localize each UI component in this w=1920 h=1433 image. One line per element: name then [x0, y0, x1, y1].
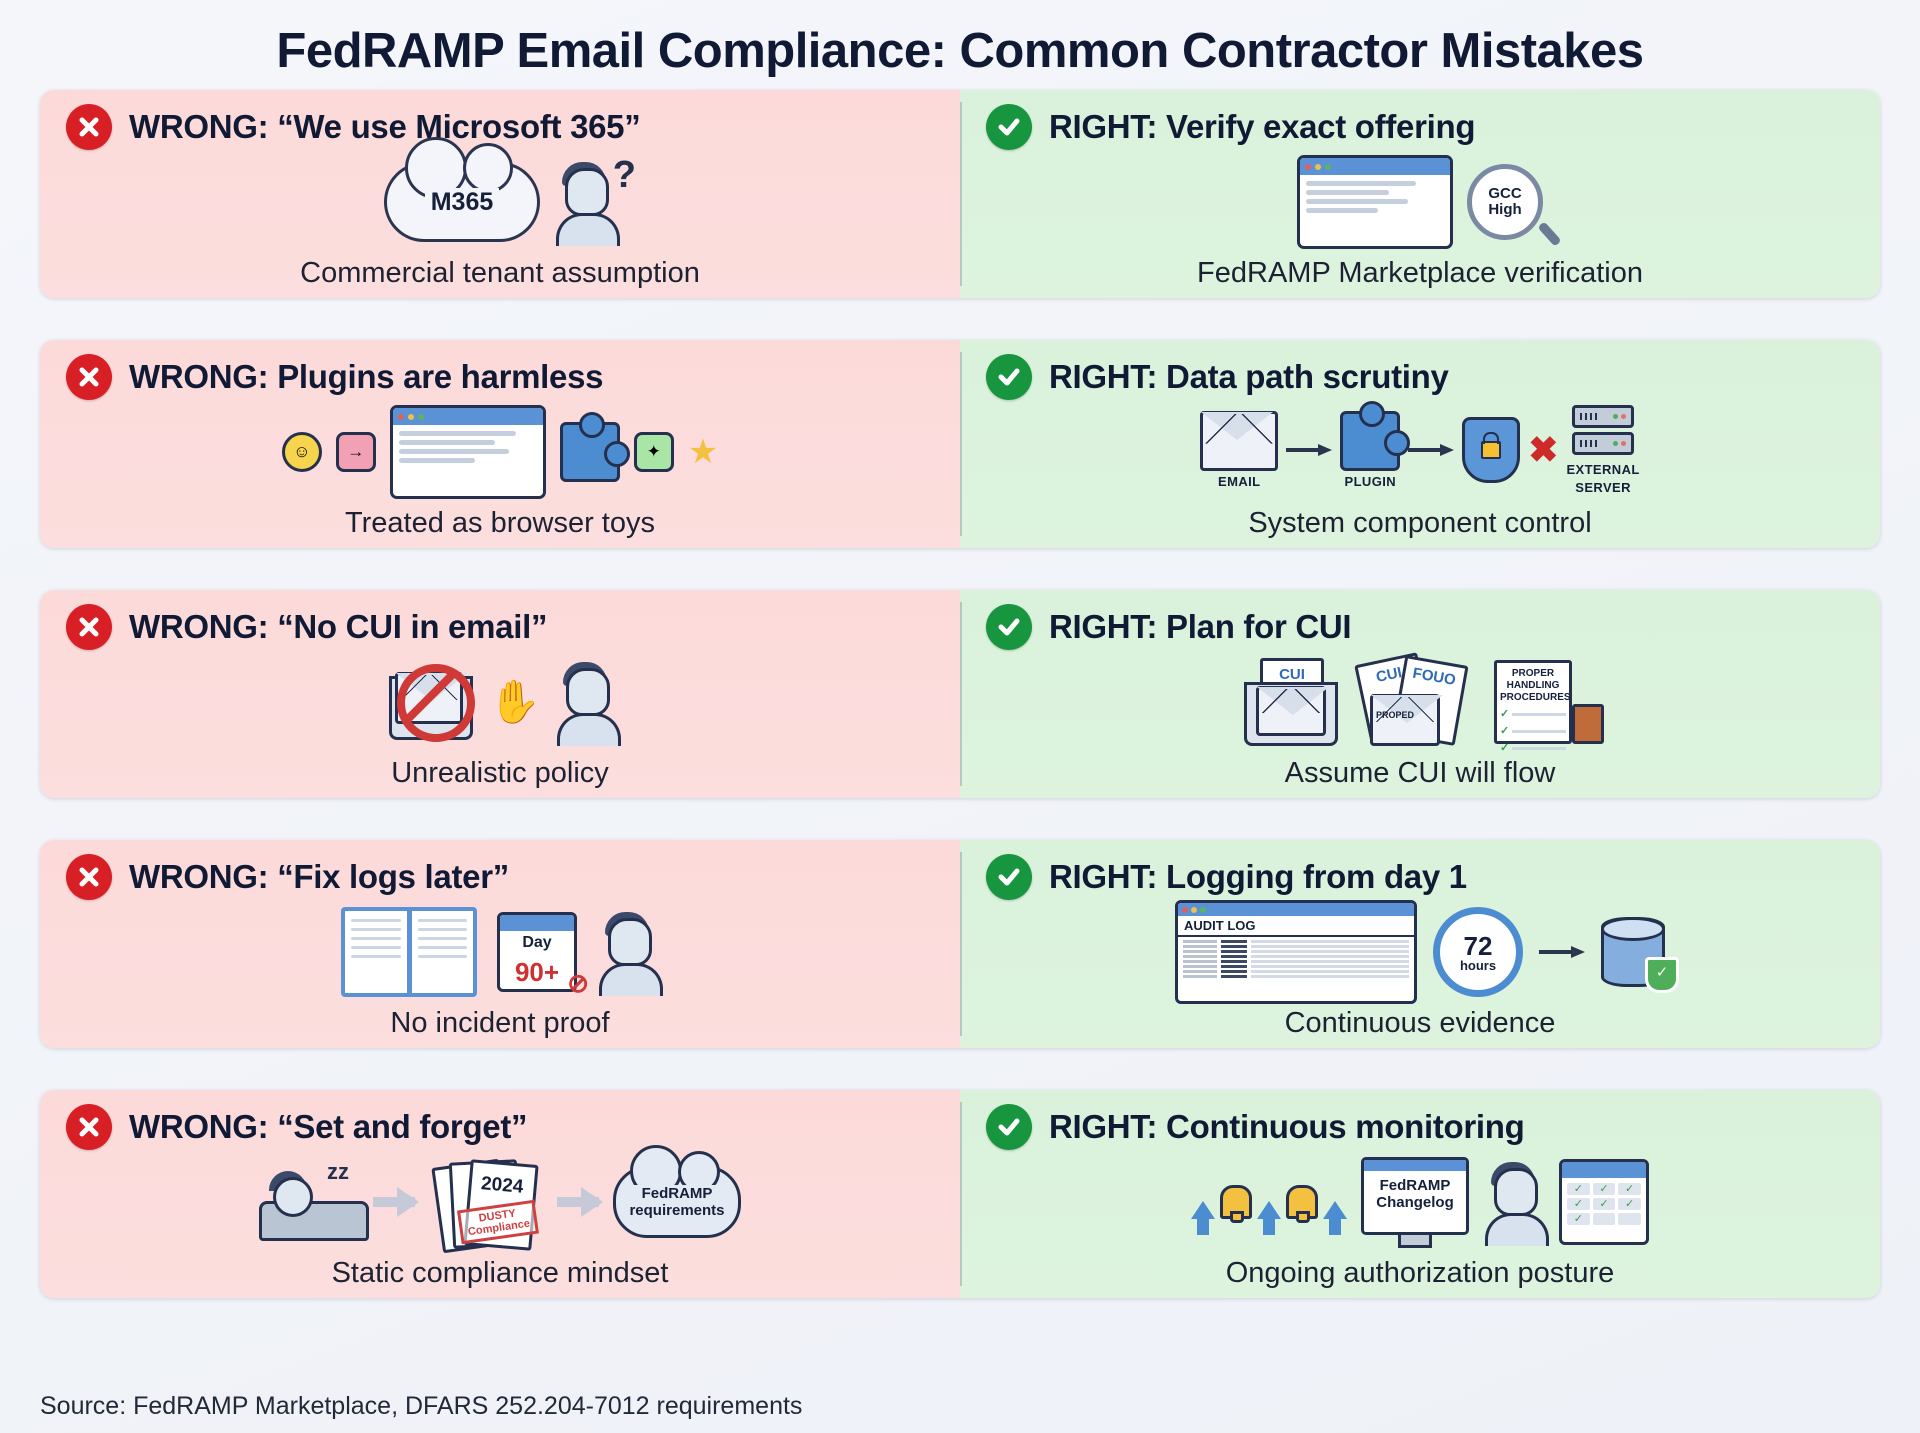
cloud-line1: FedRAMP [638, 1185, 717, 1202]
window-content [1300, 175, 1450, 219]
comparison-row-1: WRONG: “We use Microsoft 365” M365 ? Com… [40, 90, 1880, 298]
calendar-day-value: 90+ [500, 955, 574, 989]
right-caption-4: Continuous evidence [960, 1007, 1880, 1040]
window-maximize-dot [418, 414, 424, 420]
checklist-item: ✓ [1500, 742, 1566, 755]
wrong-header-5: WRONG: “Set and forget” [40, 1090, 960, 1150]
right-header-5: RIGHT: Continuous monitoring [960, 1090, 1880, 1150]
calendar-cell [1593, 1213, 1616, 1225]
calendar-icon: Day 90+ [497, 912, 577, 992]
blocked-circle-icon: ⊘ [567, 970, 589, 996]
cloud-text: FedRAMP requirements [621, 1185, 732, 1220]
alerts-group [1191, 1185, 1347, 1219]
right-header-1: RIGHT: Verify exact offering [960, 90, 1880, 150]
calendar-cell: ✓ [1567, 1213, 1590, 1225]
plugin-node: PLUGIN [1340, 411, 1400, 489]
content-line [399, 440, 496, 445]
calendar-cell: ✓ [1618, 1183, 1641, 1195]
wrong-art-3: ✋ [40, 652, 960, 752]
plugin-node-label: PLUGIN [1345, 474, 1397, 489]
content-line [1306, 199, 1408, 204]
rubber-stamp-icon [1572, 704, 1604, 744]
window-close-dot [1305, 164, 1311, 170]
wrong-art-4: Day 90+ ⊘ [40, 902, 960, 1002]
wrong-header-3: WRONG: “No CUI in email” [40, 590, 960, 650]
audit-log-row [1183, 940, 1409, 943]
check-mark-icon [986, 1104, 1032, 1150]
right-heading-4: RIGHT: Logging from day 1 [1049, 858, 1467, 896]
check-mark-icon [986, 354, 1032, 400]
wrong-art-1: M365 ? [40, 152, 960, 252]
wrong-heading-2: WRONG: Plugins are harmless [129, 358, 603, 396]
x-mark-icon [66, 604, 112, 650]
calendar-header [500, 915, 574, 931]
cui-fouo-group: CUI FOUO PROPED [1362, 658, 1472, 746]
wrong-panel-5: WRONG: “Set and forget” zᴢ 2024 [40, 1090, 960, 1298]
72-hours-clock-icon: 72 hours [1433, 907, 1523, 997]
window-close-dot [398, 414, 404, 420]
m365-cloud-icon: M365 [384, 162, 540, 242]
wrong-header-1: WRONG: “We use Microsoft 365” [40, 90, 960, 150]
right-panel-4: RIGHT: Logging from day 1 AUDIT LOG [960, 840, 1880, 1048]
calendar-cell: ✓ [1593, 1198, 1616, 1210]
infographic-page: FedRAMP Email Compliance: Common Contrac… [0, 0, 1920, 1433]
person-icon [555, 658, 617, 746]
right-heading-3: RIGHT: Plan for CUI [1049, 608, 1351, 646]
high-label: High [1488, 202, 1521, 218]
wrong-art-2: ☺ → [40, 402, 960, 502]
person-body [556, 213, 620, 246]
window-titlebar [393, 408, 543, 425]
flow-arrow-icon [557, 1187, 603, 1217]
arrow-chip-icon: → [336, 432, 376, 472]
email-envelope-icon [1370, 694, 1440, 746]
audit-log-title: AUDIT LOG [1178, 916, 1414, 937]
comparison-row-3: WRONG: “No CUI in email” ✋ Unreal [40, 590, 1880, 798]
audit-log-row [1183, 945, 1409, 948]
up-arrow-icon [1257, 1201, 1281, 1219]
wrong-caption-3: Unrealistic policy [40, 757, 960, 790]
monitor-text: FedRAMP Changelog [1364, 1171, 1466, 1212]
m365-cloud-label: M365 [425, 188, 500, 217]
right-panel-2: RIGHT: Data path scrutiny EMAIL PLUGIN [960, 340, 1880, 548]
right-caption-2: System component control [960, 507, 1880, 540]
bell-icon [1220, 1185, 1252, 1219]
right-header-2: RIGHT: Data path scrutiny [960, 340, 1880, 400]
notebook-left-page [345, 911, 407, 993]
content-line [399, 458, 475, 463]
monitor-line2: Changelog [1376, 1194, 1454, 1211]
wrong-art-5: zᴢ 2024 DUSTY Compliance [40, 1152, 960, 1252]
content-line [1306, 208, 1378, 213]
right-art-1: GCC High [960, 152, 1880, 252]
audit-log-row [1183, 975, 1409, 978]
right-art-5: FedRAMP Changelog ✓ [960, 1152, 1880, 1252]
audit-log-row [1183, 970, 1409, 973]
dusty-compliance-docs-icon: 2024 DUSTY Compliance [429, 1159, 547, 1245]
calendar-grid: ✓ ✓ ✓ ✓ ✓ ✓ ✓ [1562, 1178, 1646, 1230]
gcc-label: GCC [1488, 186, 1521, 202]
monitor-screen: FedRAMP Changelog [1361, 1157, 1469, 1235]
right-art-2: EMAIL PLUGIN ✖ [960, 398, 1880, 502]
up-arrow-icon [1323, 1201, 1347, 1219]
window-titlebar [1178, 903, 1414, 916]
check-mark-icon [986, 854, 1032, 900]
wrong-caption-1: Commercial tenant assumption [40, 257, 960, 290]
source-footer: Source: FedRAMP Marketplace, DFARS 252.2… [40, 1392, 802, 1421]
right-caption-1: FedRAMP Marketplace verification [960, 257, 1880, 290]
wrong-panel-2: WRONG: Plugins are harmless ☺ → [40, 340, 960, 548]
window-minimize-dot [1315, 164, 1321, 170]
lock-icon [1481, 441, 1501, 459]
audit-log-row [1183, 965, 1409, 968]
window-close-dot [1182, 907, 1188, 913]
sparkle-chip-icon: ✦ [634, 432, 674, 472]
right-panel-3: RIGHT: Plan for CUI CUI CUI FOUO PROPED [960, 590, 1880, 798]
prohibition-icon [397, 664, 475, 742]
worried-person-icon [597, 908, 659, 996]
calendar-cell [1618, 1213, 1641, 1225]
wrong-header-2: WRONG: Plugins are harmless [40, 340, 960, 400]
email-node-label: EMAIL [1218, 474, 1260, 489]
person-body [557, 713, 621, 746]
right-panel-1: RIGHT: Verify exact offering [960, 90, 1880, 298]
doc-title-line3: PROCEDURES [1500, 692, 1566, 704]
external-server-node: EXTERNAL SERVER [1566, 405, 1639, 495]
calendar-cell: ✓ [1567, 1183, 1590, 1195]
cloud-line2: requirements [625, 1202, 728, 1219]
external-server-label-line1: EXTERNAL [1566, 462, 1639, 477]
person-head [565, 168, 609, 216]
wrong-panel-1: WRONG: “We use Microsoft 365” M365 ? Com… [40, 90, 960, 298]
proped-stamp-label: PROPED [1376, 710, 1414, 720]
monitoring-calendar-icon: ✓ ✓ ✓ ✓ ✓ ✓ ✓ [1559, 1159, 1649, 1245]
right-heading-1: RIGHT: Verify exact offering [1049, 108, 1475, 146]
server-unit [1572, 405, 1634, 428]
email-envelope-icon [1200, 411, 1278, 471]
comparison-row-2: WRONG: Plugins are harmless ☺ → [40, 340, 1880, 548]
comparison-row-5: WRONG: “Set and forget” zᴢ 2024 [40, 1090, 1880, 1298]
person-head [566, 668, 610, 716]
doc-title-line1: PROPER [1500, 668, 1566, 680]
right-art-3: CUI CUI FOUO PROPED PROPER HANDLING [960, 652, 1880, 752]
puzzle-piece-icon [560, 422, 620, 482]
shield-lock-icon [1462, 417, 1520, 483]
external-server-label-line2: SERVER [1575, 480, 1631, 495]
up-arrow-icon [1191, 1201, 1215, 1219]
monitor-line1: FedRAMP [1380, 1177, 1451, 1194]
person-head [273, 1177, 313, 1217]
year-label: 2024 [480, 1173, 524, 1199]
wrong-heading-3: WRONG: “No CUI in email” [129, 608, 547, 646]
window-titlebar [1300, 158, 1450, 175]
window-maximize-dot [1325, 164, 1331, 170]
wrong-header-4: WRONG: “Fix logs later” [40, 840, 960, 900]
notebook-right-page [412, 911, 474, 993]
calendar-cell: ✓ [1618, 1198, 1641, 1210]
smiley-chip-icon: ☺ [282, 432, 322, 472]
marketplace-window-icon [1297, 155, 1453, 249]
cui-inbox-group: CUI [1236, 658, 1340, 746]
email-envelope-icon [1256, 686, 1326, 736]
fedramp-requirements-cloud-icon: FedRAMP requirements [613, 1166, 741, 1238]
wrong-panel-4: WRONG: “Fix logs later” [40, 840, 960, 1048]
wrong-caption-2: Treated as browser toys [40, 507, 960, 540]
check-mark-icon [986, 604, 1032, 650]
blocked-x-icon: ✖ [1528, 432, 1558, 468]
database-verified-shield-icon: ✓ [1645, 957, 1679, 993]
wrong-heading-1: WRONG: “We use Microsoft 365” [129, 108, 640, 146]
x-mark-icon [66, 104, 112, 150]
person-body [599, 963, 663, 996]
open-notebook-icon [341, 907, 477, 997]
window-minimize-dot [408, 414, 414, 420]
magnifier-gcc-high-icon: GCC High [1467, 164, 1543, 240]
calendar-cell: ✓ [1593, 1183, 1616, 1195]
calendar-header [1562, 1162, 1646, 1178]
audit-log-entries [1178, 937, 1414, 981]
right-art-4: AUDIT LOG 72 [960, 902, 1880, 1002]
analyst-person-icon [1483, 1158, 1545, 1246]
content-line [399, 449, 509, 454]
database-group: ✓ [1601, 917, 1665, 987]
person-head [1494, 1168, 1538, 1216]
check-mark-icon [986, 104, 1032, 150]
audit-log-row [1183, 955, 1409, 958]
server-icon [1572, 405, 1634, 459]
checklist-item: ✓ [1500, 708, 1566, 721]
content-line [1306, 190, 1389, 195]
x-mark-icon [66, 1104, 112, 1150]
content-line [399, 431, 516, 436]
question-mark-icon: ? [613, 154, 636, 197]
wrong-heading-4: WRONG: “Fix logs later” [129, 858, 509, 896]
comparison-row-4: WRONG: “Fix logs later” [40, 840, 1880, 1048]
monitor-stand [1398, 1235, 1432, 1248]
wrong-heading-5: WRONG: “Set and forget” [129, 1108, 527, 1146]
sleep-z-icon: zᴢ [327, 1159, 349, 1185]
handling-procedures-group: PROPER HANDLING PROCEDURES ✓ ✓ ✓ [1494, 660, 1604, 744]
right-header-3: RIGHT: Plan for CUI [960, 590, 1880, 650]
right-caption-5: Ongoing authorization posture [960, 1257, 1880, 1290]
browser-window-icon [390, 405, 546, 499]
wrong-caption-5: Static compliance mindset [40, 1257, 960, 1290]
stop-hand-icon: ✋ [489, 681, 541, 723]
right-caption-3: Assume CUI will flow [960, 757, 1880, 790]
right-heading-2: RIGHT: Data path scrutiny [1049, 358, 1449, 396]
audit-log-window-icon: AUDIT LOG [1175, 900, 1417, 1004]
handling-procedures-doc-icon: PROPER HANDLING PROCEDURES ✓ ✓ ✓ [1494, 660, 1572, 744]
flow-arrow-icon [1286, 444, 1332, 456]
window-titlebar [1364, 1160, 1466, 1171]
window-content [393, 425, 543, 469]
clock-value: 72 [1464, 933, 1493, 959]
doc-title-line2: HANDLING [1500, 680, 1566, 692]
person-body [1485, 1213, 1549, 1246]
window-minimize-dot [1191, 907, 1197, 913]
changelog-monitor-icon: FedRAMP Changelog [1361, 1157, 1469, 1248]
x-mark-icon [66, 854, 112, 900]
wrong-panel-3: WRONG: “No CUI in email” ✋ Unreal [40, 590, 960, 798]
blocked-inbox-icon [383, 662, 475, 742]
day90-calendar-group: Day 90+ ⊘ [497, 912, 577, 992]
content-line [1306, 181, 1416, 186]
audit-log-row [1183, 960, 1409, 963]
right-heading-5: RIGHT: Continuous monitoring [1049, 1108, 1525, 1146]
flow-arrow-icon [1408, 444, 1454, 456]
email-node: EMAIL [1200, 411, 1278, 489]
page-title: FedRAMP Email Compliance: Common Contrac… [0, 0, 1920, 82]
wrong-caption-4: No incident proof [40, 1007, 960, 1040]
comparison-rows: WRONG: “We use Microsoft 365” M365 ? Com… [40, 90, 1880, 1298]
person-head [608, 918, 652, 966]
server-unit [1572, 432, 1634, 455]
calendar-cell: ✓ [1567, 1198, 1590, 1210]
right-header-4: RIGHT: Logging from day 1 [960, 840, 1880, 900]
audit-log-row [1183, 950, 1409, 953]
window-maximize-dot [1200, 907, 1206, 913]
confused-person-icon: ? [554, 158, 616, 246]
clock-unit: hours [1460, 959, 1496, 972]
bell-icon [1286, 1185, 1318, 1219]
right-panel-5: RIGHT: Continuous monitoring [960, 1090, 1880, 1298]
checklist-item: ✓ [1500, 725, 1566, 738]
flow-arrow-icon [373, 1187, 419, 1217]
x-mark-icon [66, 354, 112, 400]
sleeping-person-icon: zᴢ [259, 1163, 363, 1241]
flow-arrow-icon [1539, 946, 1585, 958]
puzzle-piece-icon [1340, 411, 1400, 471]
star-icon: ★ [688, 435, 718, 469]
calendar-day-label: Day [500, 931, 574, 955]
